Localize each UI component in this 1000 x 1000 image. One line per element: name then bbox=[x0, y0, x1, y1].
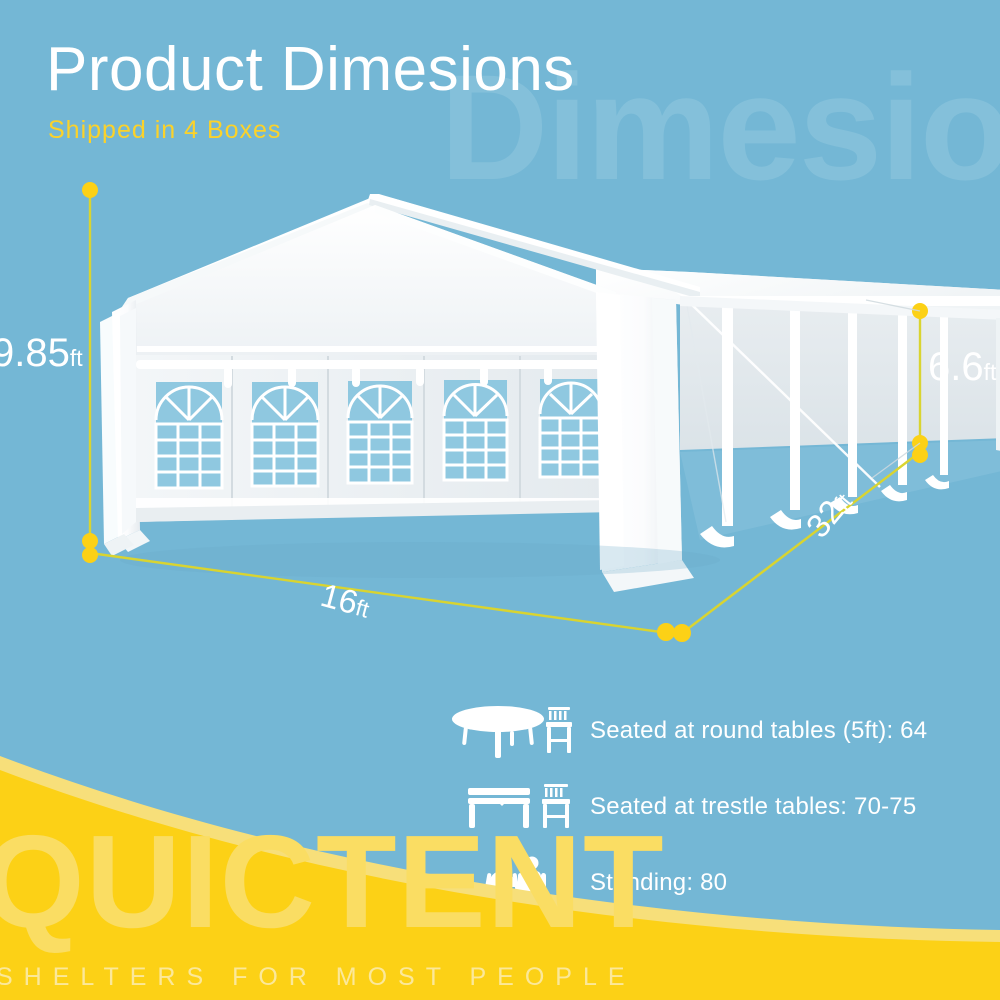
page-title: Product Dimesions bbox=[46, 36, 575, 104]
height-value: 9.85 bbox=[0, 331, 70, 375]
dimension-lines bbox=[0, 0, 1000, 700]
infographic-canvas: Dimesio bbox=[0, 0, 1000, 1000]
eave-unit: ft bbox=[984, 359, 997, 385]
dimension-endpoints bbox=[82, 182, 928, 642]
brand-watermark-text: QUICTENT bbox=[0, 816, 665, 948]
brand-tagline: SHELTERS FOR MOST PEOPLE bbox=[0, 963, 636, 992]
brand-banner: QUICTENT SHELTERS FOR MOST PEOPLE bbox=[0, 720, 1000, 1000]
eave-value: 6.6 bbox=[928, 345, 984, 389]
depth-dimension-line bbox=[681, 452, 920, 634]
width-dimension-line bbox=[90, 553, 668, 633]
height-unit: ft bbox=[70, 345, 83, 371]
height-dimension-label: 9.85ft bbox=[0, 333, 83, 373]
page-subtitle: Shipped in 4 Boxes bbox=[48, 116, 281, 145]
eave-height-dimension-label: 6.6ft bbox=[928, 347, 996, 387]
